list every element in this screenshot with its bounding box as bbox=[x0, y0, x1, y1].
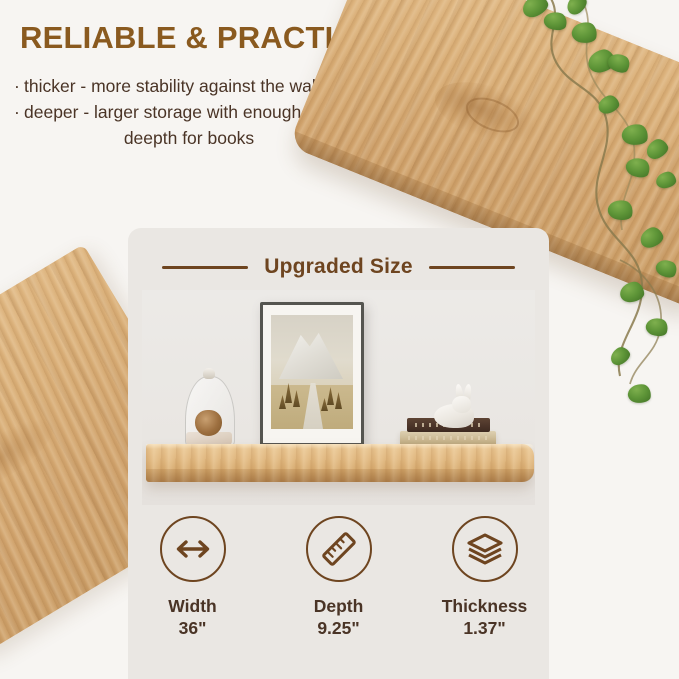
infographic-stage: RELIABLE & PRACTICAL ·thicker - more sta… bbox=[0, 0, 679, 679]
divider-left bbox=[162, 266, 248, 269]
bullet-marker-icon: · bbox=[14, 74, 24, 100]
pinecone bbox=[195, 410, 222, 436]
divider-right bbox=[429, 266, 515, 269]
spec-label: Width bbox=[168, 596, 216, 617]
wooden-shelf-board bbox=[146, 444, 534, 482]
leaf-icon bbox=[606, 197, 635, 222]
leaf-icon bbox=[644, 315, 670, 339]
spec-value: 36" bbox=[179, 618, 207, 639]
spec-width: Width 36" bbox=[145, 516, 241, 638]
product-photo bbox=[142, 290, 535, 505]
shelf-top-highlight bbox=[146, 444, 534, 449]
leaf-icon bbox=[637, 225, 665, 251]
stacked-books bbox=[400, 412, 496, 446]
leaf-icon bbox=[643, 136, 671, 162]
leaf-icon bbox=[570, 20, 598, 45]
double-arrow-glyph bbox=[173, 537, 213, 561]
mountain-landscape-art bbox=[271, 315, 353, 429]
ruler-icon bbox=[306, 516, 372, 582]
mountain-shape bbox=[279, 331, 343, 379]
leaf-icon bbox=[627, 383, 652, 404]
leaf-icon bbox=[653, 256, 679, 280]
shelf-front-edge bbox=[146, 469, 534, 482]
spec-thickness: Thickness 1.37" bbox=[437, 516, 533, 638]
layers-glyph bbox=[465, 532, 505, 566]
picture-frame bbox=[260, 302, 364, 446]
section-title: Upgraded Size bbox=[264, 255, 412, 279]
leaf-icon bbox=[607, 344, 632, 368]
leaf-icon bbox=[542, 9, 569, 33]
spec-value: 1.37" bbox=[463, 618, 505, 639]
spec-depth: Depth 9.25" bbox=[291, 516, 387, 638]
section-header: Upgraded Size bbox=[128, 254, 549, 280]
leaf-icon bbox=[563, 0, 590, 18]
bullet-text: thicker - more stability against the wal… bbox=[24, 76, 320, 96]
rabbit-head bbox=[452, 396, 471, 413]
cloche-knob bbox=[203, 368, 215, 379]
spec-value: 9.25" bbox=[317, 618, 359, 639]
rabbit-figurine bbox=[432, 384, 474, 428]
book-spine-text bbox=[408, 436, 488, 440]
leaf-icon bbox=[623, 154, 652, 181]
width-arrow-icon bbox=[160, 516, 226, 582]
bullet-text: deeper - larger storage with enough bbox=[24, 102, 301, 122]
glass-cloche bbox=[182, 366, 236, 446]
specs-row: Width 36" bbox=[128, 516, 549, 638]
spec-label: Thickness bbox=[442, 596, 528, 617]
leaf-icon bbox=[655, 171, 677, 190]
layers-icon bbox=[452, 516, 518, 582]
leaf-icon bbox=[596, 93, 621, 116]
leaf-icon bbox=[621, 122, 650, 146]
bullet-marker-icon: · bbox=[14, 100, 24, 126]
spec-label: Depth bbox=[314, 596, 364, 617]
upgraded-size-card: Upgraded Size bbox=[128, 228, 549, 679]
ruler-glyph bbox=[319, 529, 359, 569]
leaf-icon bbox=[619, 281, 645, 303]
